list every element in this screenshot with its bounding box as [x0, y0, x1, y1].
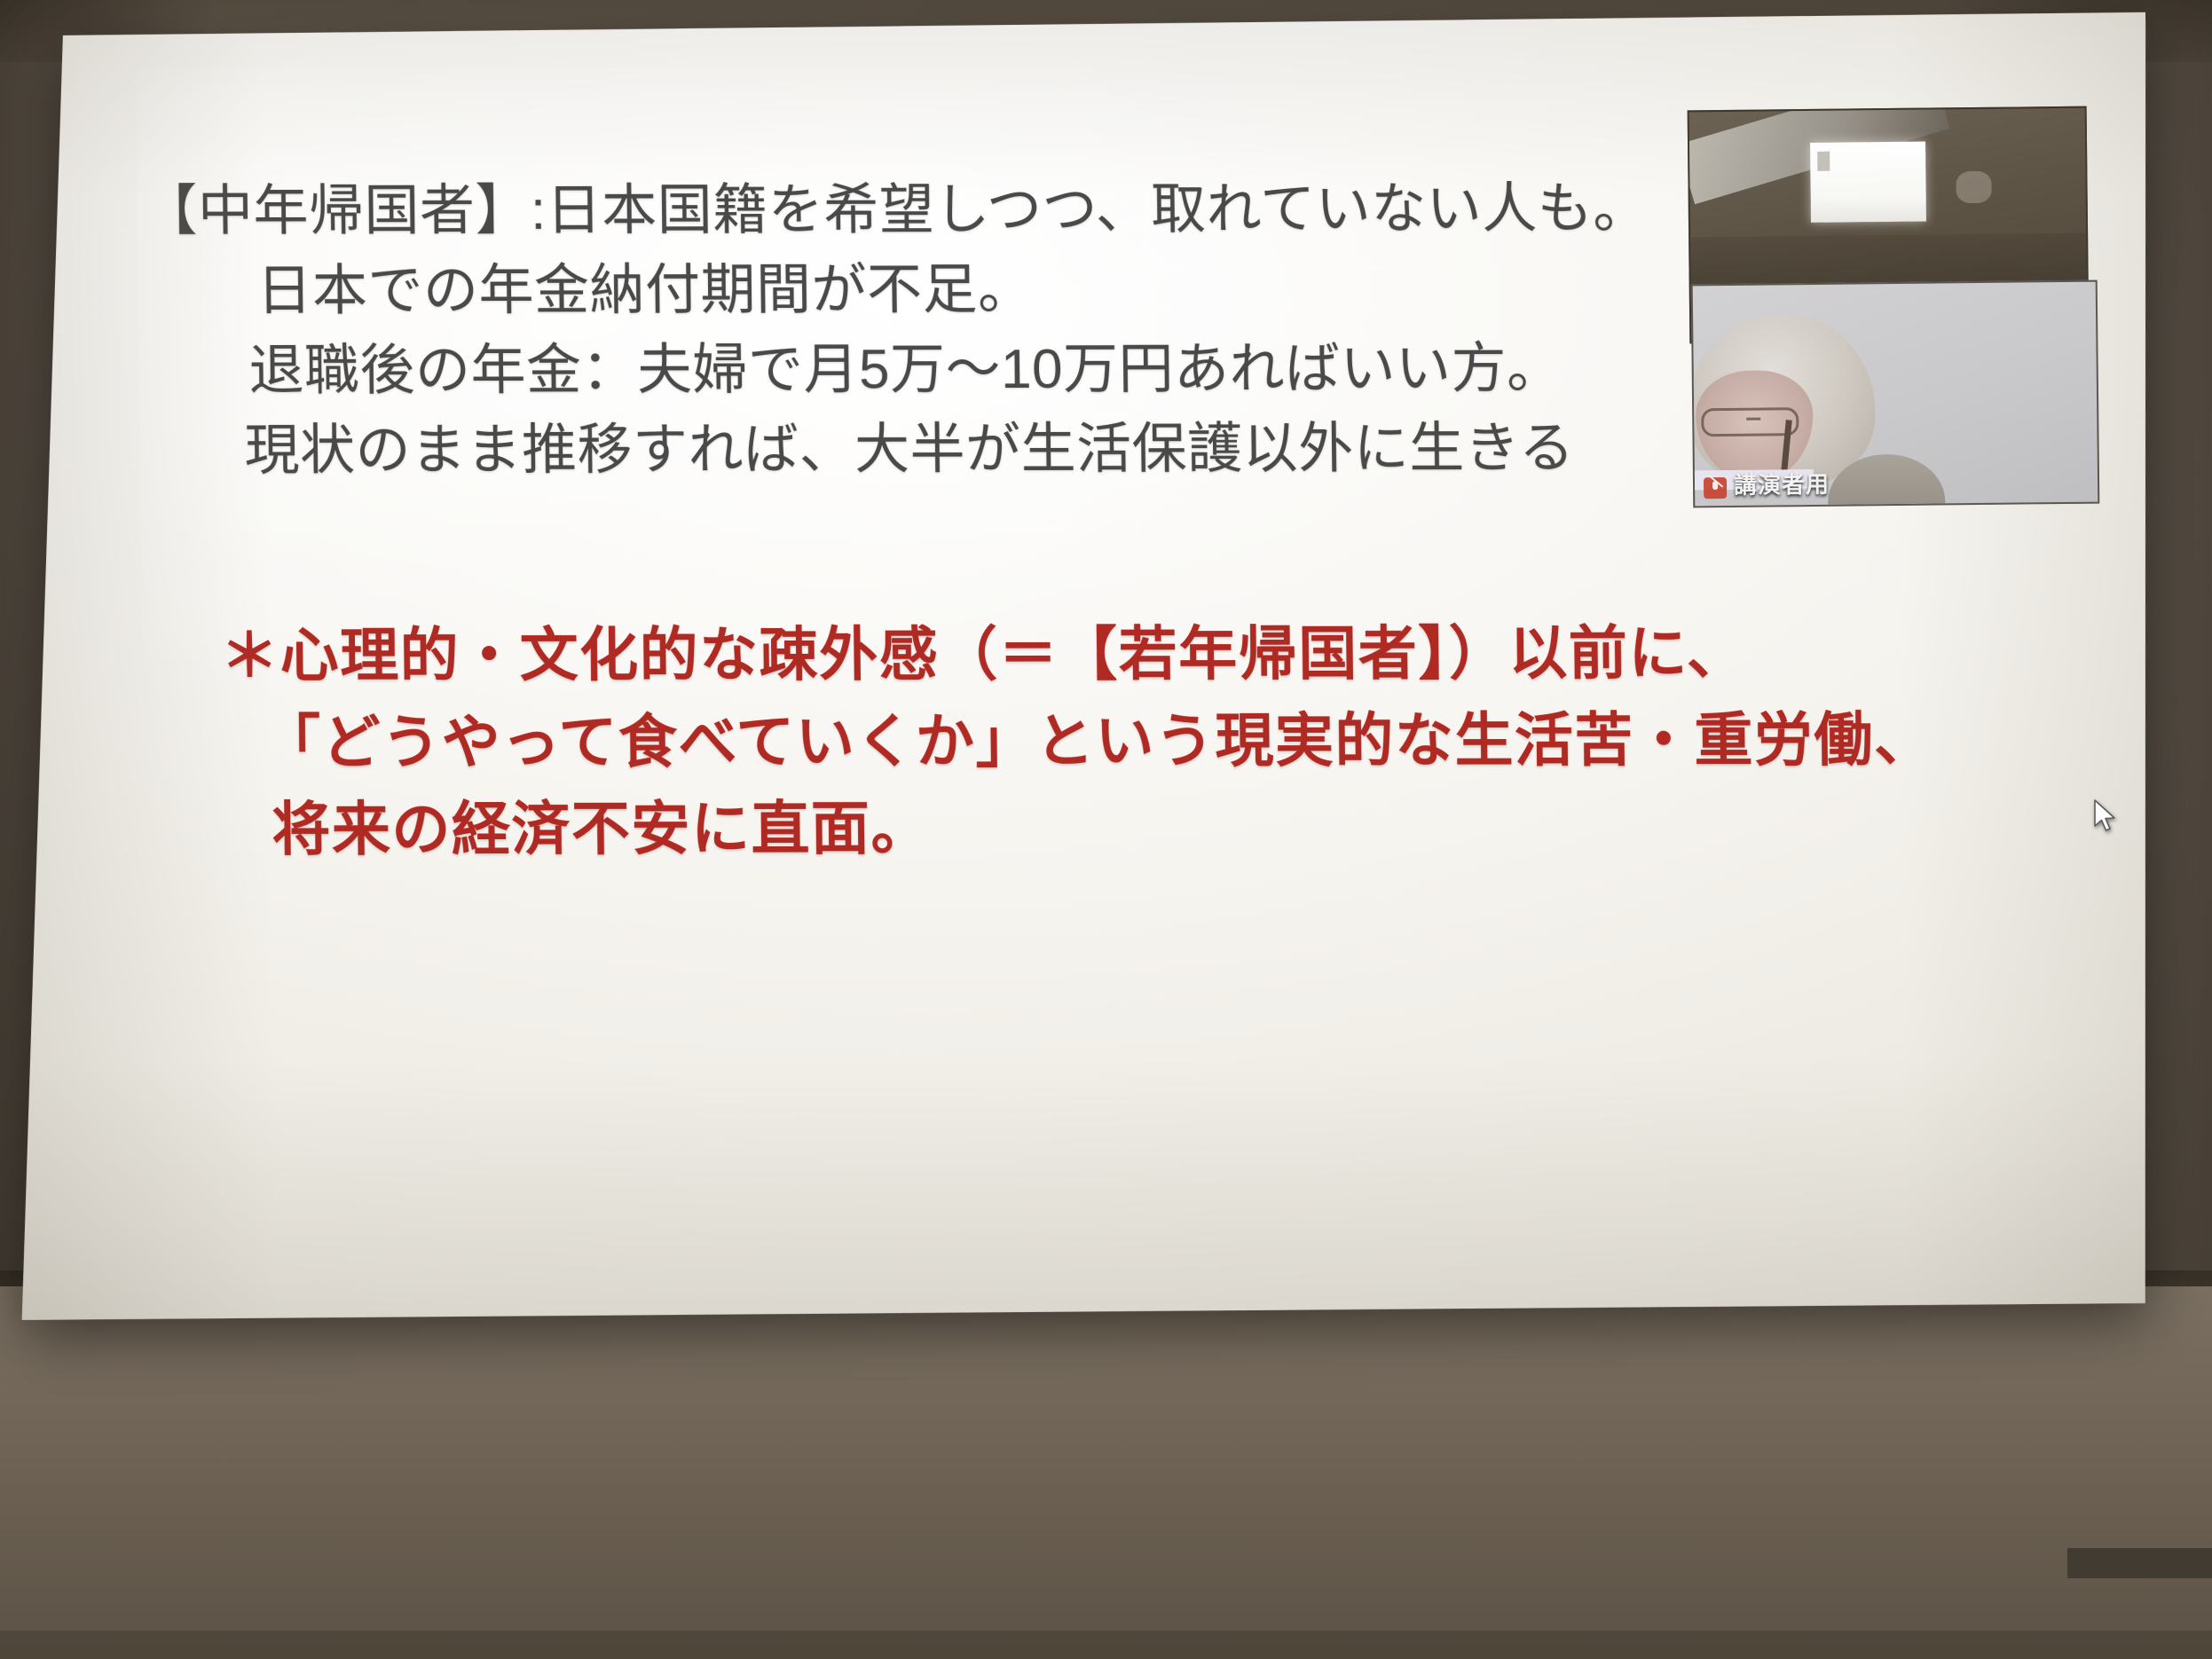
wall-smudge — [1956, 171, 1991, 203]
wall-trim — [2067, 1548, 2212, 1578]
mouse-pointer-icon — [2092, 798, 2119, 836]
bright-window — [1810, 142, 1926, 223]
video-conference-overlay: ホスト用 講演者用 — [1689, 108, 2106, 506]
slide-highlight-line-1: ＊心理的・文化的な疎外感（＝【若年帰国者】）以前に、 — [220, 609, 2102, 699]
muted-microphone-icon — [1704, 477, 1727, 499]
wall-lower-band — [0, 1286, 2212, 1659]
video-tile-speaker[interactable]: 講演者用 — [1691, 280, 2100, 508]
video-tile-label-speaker: 講演者用 — [1734, 467, 1830, 500]
slide-highlight-text: ＊心理的・文化的な疎外感（＝【若年帰国者】）以前に、 「どうやって食べていくか」… — [220, 609, 2104, 873]
wall-seam — [0, 1631, 2212, 1659]
slide-highlight-line-2: 「どうやって食べていくか」という現実的な生活苦・重労働、 — [262, 696, 2103, 786]
slide-highlight-line-3: 将来の経済不安に直面。 — [272, 782, 2104, 873]
window-marking — [1817, 152, 1830, 171]
